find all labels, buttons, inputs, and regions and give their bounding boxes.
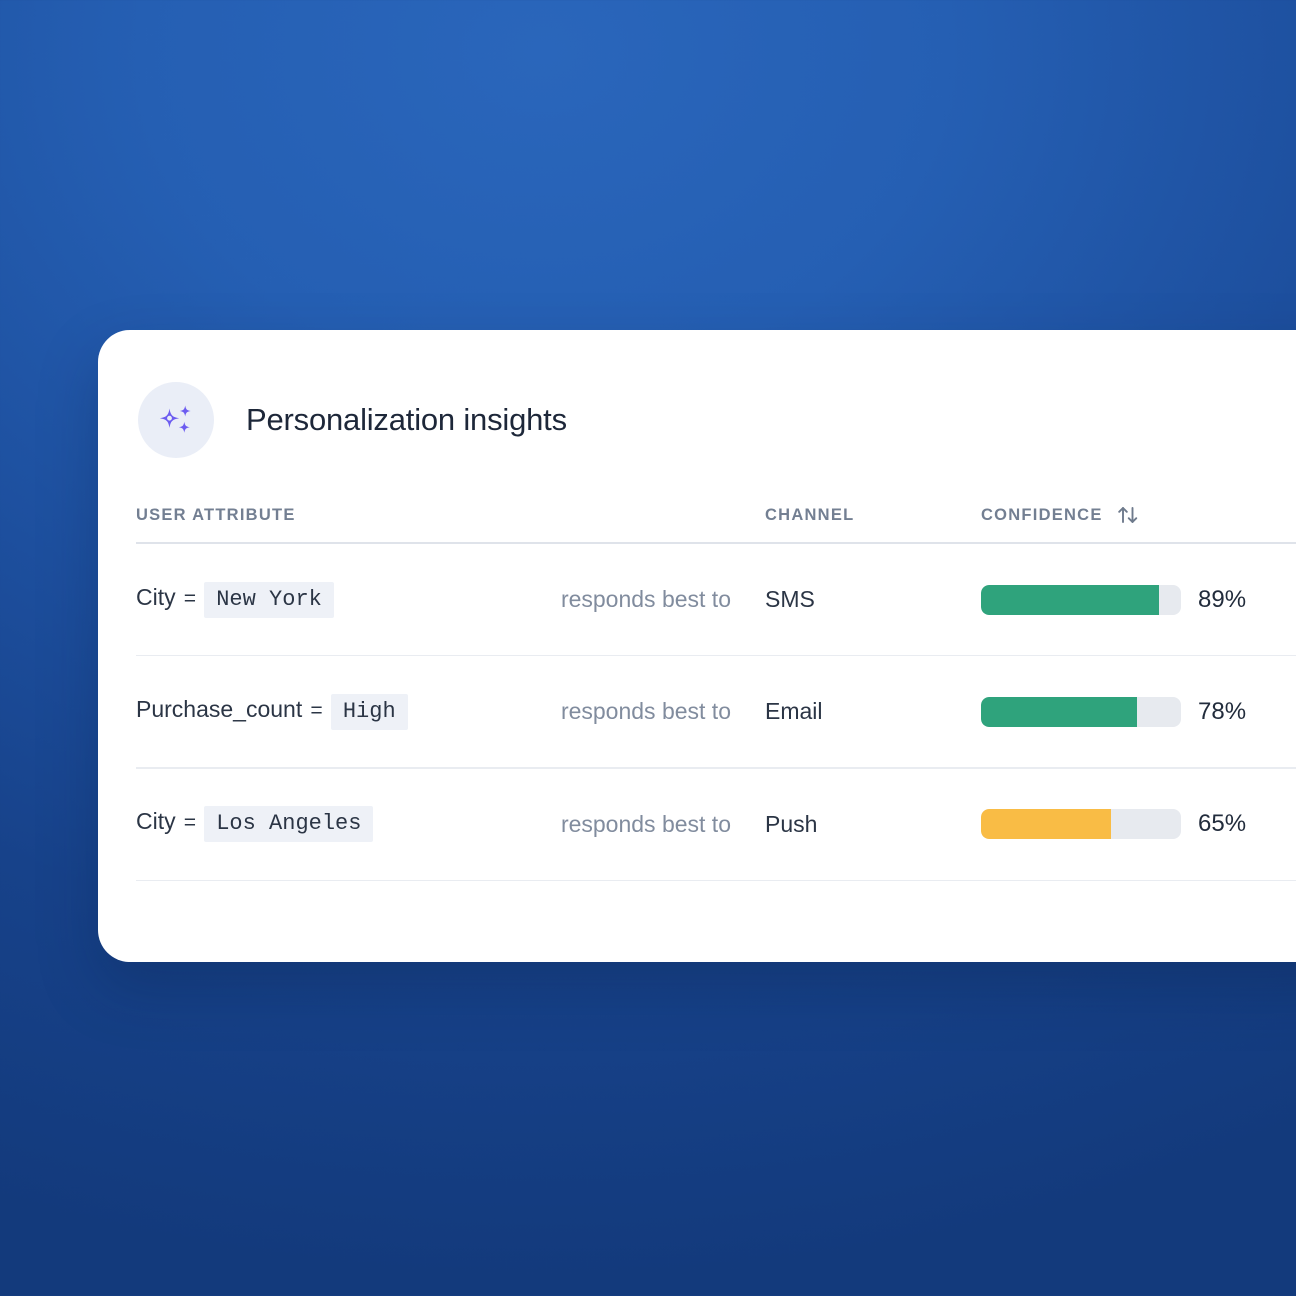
insights-table: USER ATTRIBUTE CHANNEL CONFIDENCE xyxy=(136,498,1296,881)
confidence-bar-track xyxy=(981,809,1181,839)
table-row-divider xyxy=(136,880,1296,881)
attribute-operator: = xyxy=(184,813,197,836)
confidence-bar-fill xyxy=(981,809,1111,839)
attribute-operator: = xyxy=(184,589,197,612)
column-header-user-attribute: USER ATTRIBUTE xyxy=(136,506,765,525)
confidence-value: 78% xyxy=(1198,698,1260,726)
cell-user-attribute: Purchase_count = High responds best to xyxy=(136,694,765,730)
confidence-value: 89% xyxy=(1198,586,1260,614)
cell-channel: SMS xyxy=(765,586,981,613)
sparkles-icon xyxy=(154,398,198,442)
cell-user-attribute: City = New York responds best to xyxy=(136,582,765,618)
column-header-confidence[interactable]: CONFIDENCE xyxy=(981,503,1141,527)
table-row[interactable]: City = New York responds best to SMS 89% xyxy=(136,544,1296,655)
column-header-confidence-label: CONFIDENCE xyxy=(981,506,1103,525)
table-row[interactable]: City = Los Angeles responds best to Push… xyxy=(136,769,1296,880)
attribute-value-chip: High xyxy=(331,694,408,730)
attribute-value-chip: New York xyxy=(204,582,334,618)
confidence-bar-track xyxy=(981,697,1181,727)
confidence-bar-track xyxy=(981,585,1181,615)
cell-user-attribute: City = Los Angeles responds best to xyxy=(136,806,765,842)
sparkles-icon-badge xyxy=(138,382,214,458)
confidence-bar-fill xyxy=(981,697,1137,727)
relation-phrase: responds best to xyxy=(561,586,765,613)
personalization-insights-card: Personalization insights USER ATTRIBUTE … xyxy=(98,330,1296,962)
cell-channel: Push xyxy=(765,811,981,838)
page-title: Personalization insights xyxy=(246,402,567,438)
confidence-bar-fill xyxy=(981,585,1159,615)
attribute-key: Purchase_count xyxy=(136,696,302,723)
sort-arrows-icon[interactable] xyxy=(1115,503,1141,527)
cell-channel: Email xyxy=(765,698,981,725)
attribute-value-chip: Los Angeles xyxy=(204,806,373,842)
attribute-key: City xyxy=(136,584,176,611)
cell-confidence: 89% xyxy=(981,585,1260,615)
table-header-row: USER ATTRIBUTE CHANNEL CONFIDENCE xyxy=(136,498,1296,542)
cell-confidence: 65% xyxy=(981,809,1260,839)
card-header: Personalization insights xyxy=(138,382,567,458)
attribute-key: City xyxy=(136,808,176,835)
confidence-value: 65% xyxy=(1198,810,1260,838)
relation-phrase: responds best to xyxy=(561,698,765,725)
relation-phrase: responds best to xyxy=(561,811,765,838)
column-header-channel: CHANNEL xyxy=(765,506,981,525)
attribute-operator: = xyxy=(310,701,323,724)
cell-confidence: 78% xyxy=(981,697,1260,727)
table-row[interactable]: Purchase_count = High responds best to E… xyxy=(136,656,1296,767)
